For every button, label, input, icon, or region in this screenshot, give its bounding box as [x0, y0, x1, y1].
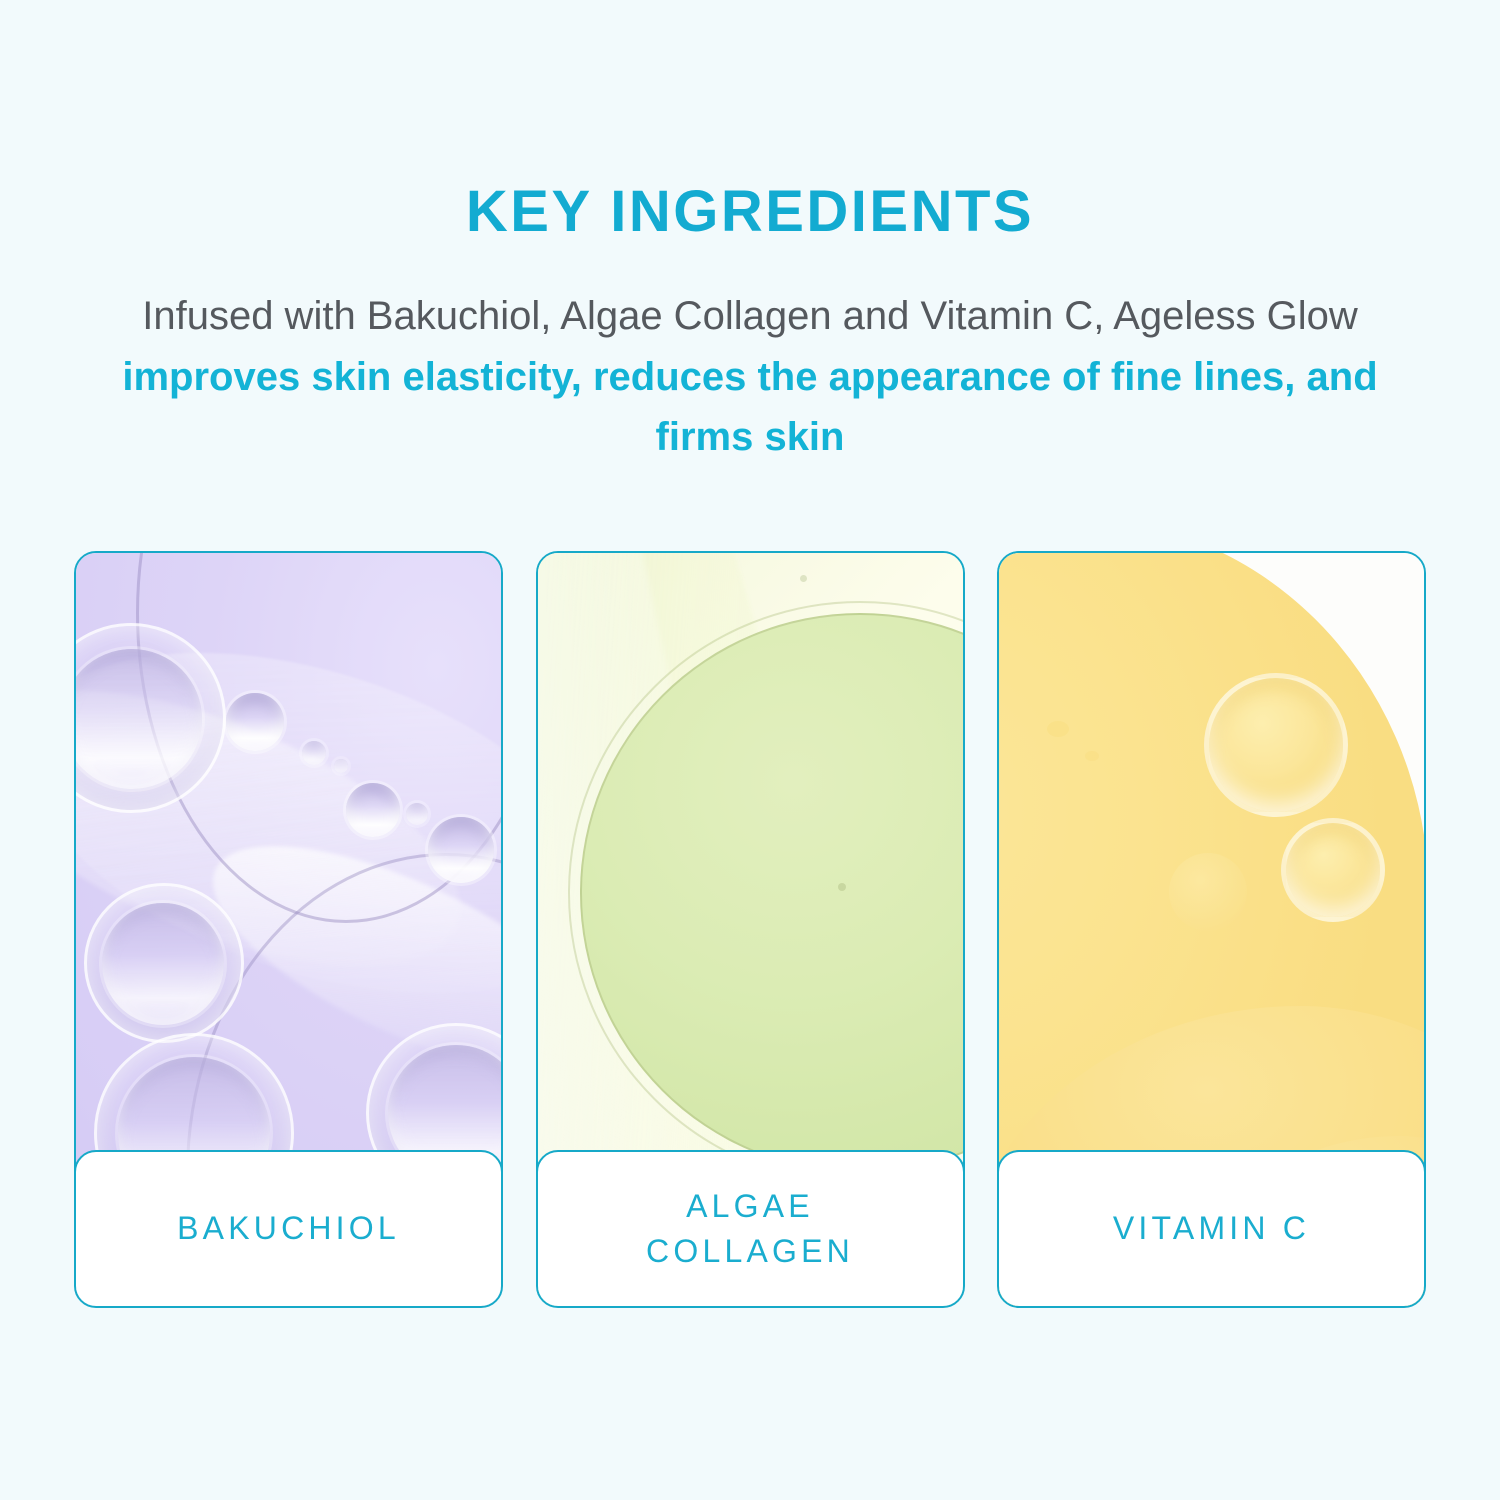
oil-bubble-large	[1204, 673, 1348, 817]
subtitle: Infused with Bakuchiol, Algae Collagen a…	[0, 286, 1500, 468]
gel-speck-a	[838, 883, 846, 891]
ingredient-label-panel-vitamin-c: VITAMIN C	[997, 1150, 1426, 1308]
header: KEY INGREDIENTS Infused with Bakuchiol, …	[0, 180, 1500, 468]
bubble-tiny-c	[406, 803, 428, 825]
bubble-large-mid-left-inner	[102, 903, 224, 1025]
bubble-small-upper	[226, 693, 284, 751]
bubble-tiny-a	[302, 741, 326, 765]
ingredient-card-vitamin-c[interactable]: VITAMIN C	[997, 551, 1426, 1308]
oil-highlight-a	[1047, 721, 1069, 737]
ingredient-card-list: BAKUCHIOL ALGAE COLLAGEN	[74, 551, 1426, 1308]
ingredient-card-algae-collagen[interactable]: ALGAE COLLAGEN	[536, 551, 965, 1308]
bubble-tiny-b	[334, 759, 348, 773]
page-title: KEY INGREDIENTS	[0, 180, 1500, 244]
ingredient-card-bakuchiol[interactable]: BAKUCHIOL	[74, 551, 503, 1308]
bubble-small-right	[428, 817, 494, 883]
subtitle-accent-text: improves skin elasticity, reduces the ap…	[122, 355, 1377, 460]
ingredient-label-bakuchiol: BAKUCHIOL	[177, 1206, 400, 1251]
gel-speck-b	[800, 575, 807, 582]
oil-highlight-c	[1169, 853, 1247, 931]
subtitle-plain-text: Infused with Bakuchiol, Algae Collagen a…	[142, 294, 1358, 338]
bubble-small-mid	[346, 783, 400, 837]
oil-bubble-small	[1281, 818, 1385, 922]
ingredient-label-panel-bakuchiol: BAKUCHIOL	[74, 1150, 503, 1308]
key-ingredients-panel: KEY INGREDIENTS Infused with Bakuchiol, …	[0, 0, 1500, 1500]
ingredient-label-algae-collagen: ALGAE COLLAGEN	[646, 1184, 854, 1275]
ingredient-label-vitamin-c: VITAMIN C	[1113, 1206, 1310, 1251]
oil-highlight-b	[1085, 751, 1099, 761]
ingredient-label-panel-algae-collagen: ALGAE COLLAGEN	[536, 1150, 965, 1308]
